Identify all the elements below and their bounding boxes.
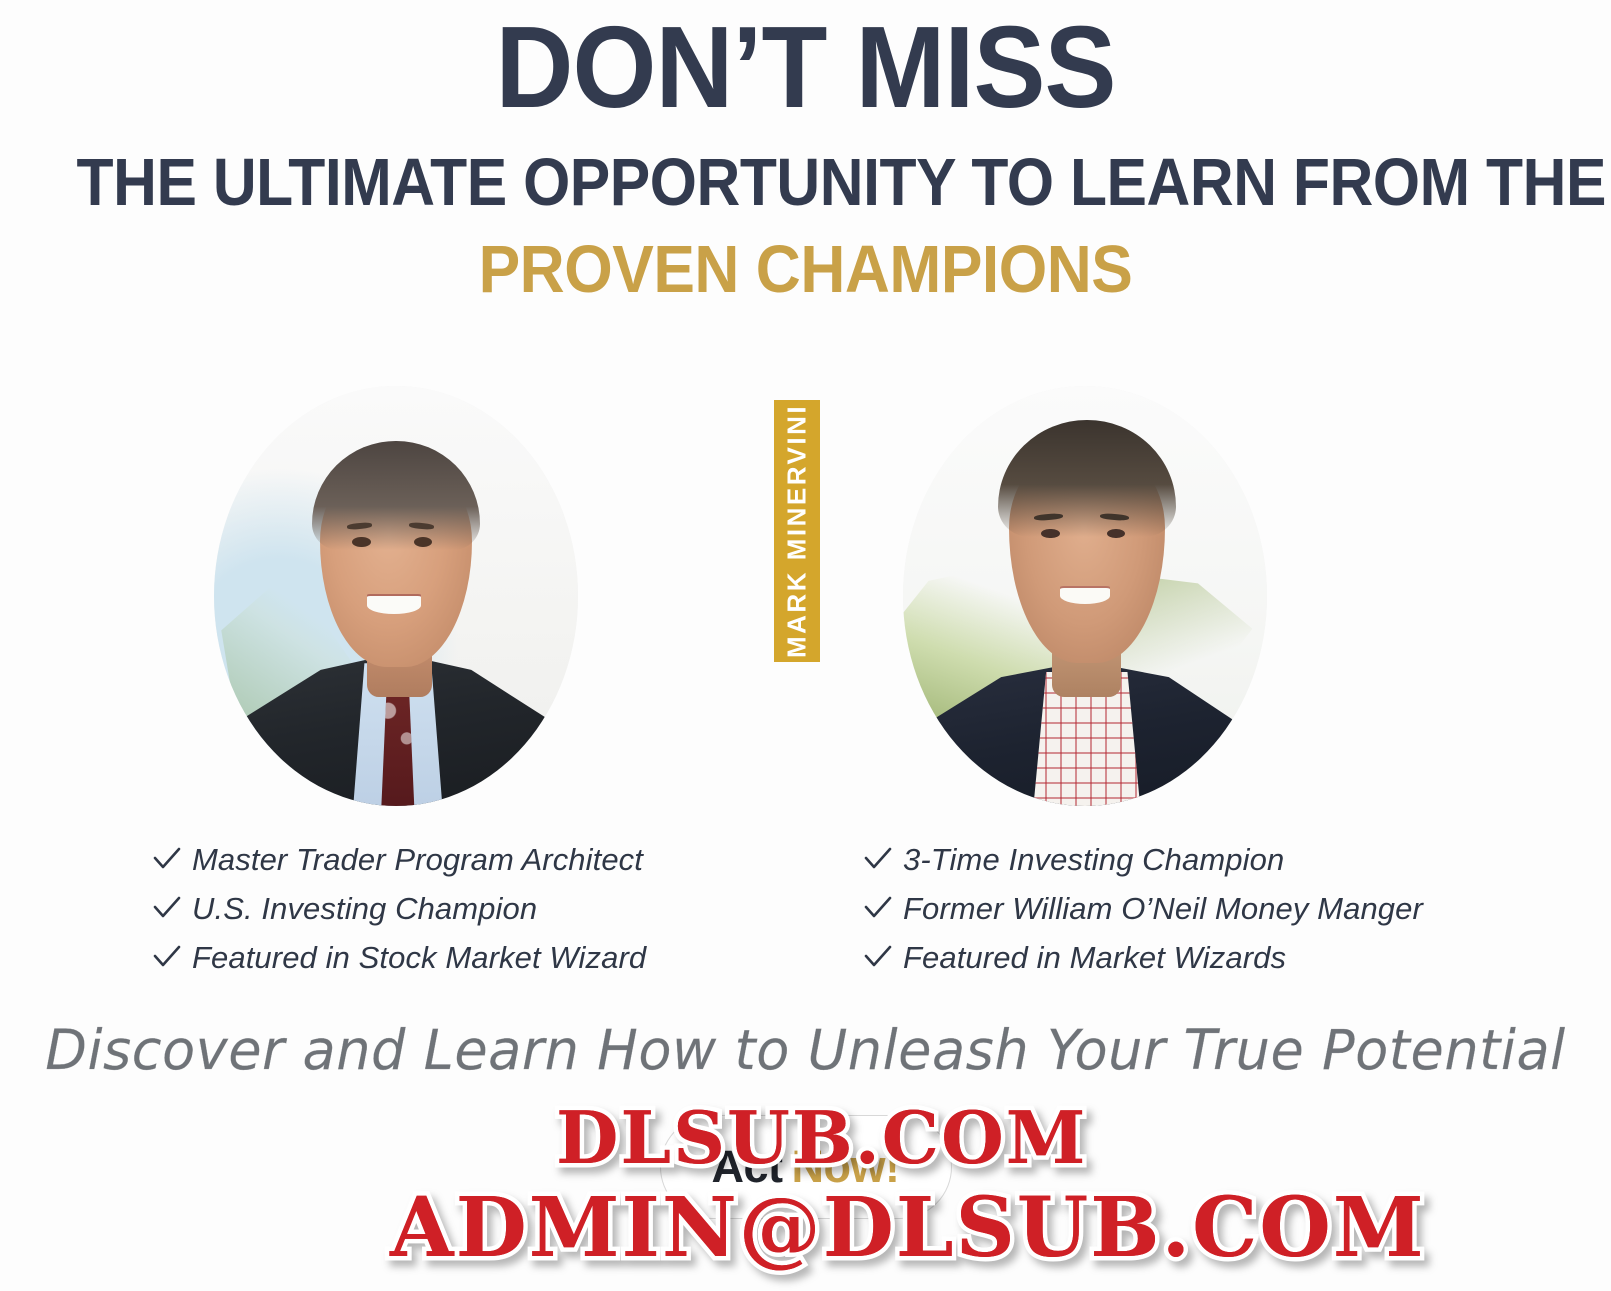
credentials-row: Master Trader Program Architect U.S. Inv…	[0, 842, 1611, 989]
tagline: Discover and Learn How to Unleash Your T…	[12, 1018, 1599, 1082]
cta-wrap: Act Now!	[660, 1115, 952, 1219]
check-icon	[863, 944, 903, 970]
list-item: Featured in Market Wizards	[863, 940, 1610, 989]
portrait-eye-left	[1041, 529, 1059, 539]
headline-primary: DON’T MISS	[56, 8, 1554, 126]
headline-accent: PROVEN CHAMPIONS	[56, 235, 1554, 305]
list-item: Master Trader Program Architect	[152, 842, 805, 891]
list-item-label: Featured in Market Wizards	[903, 940, 1286, 976]
promo-poster: DON’T MISS THE ULTIMATE OPPORTUNITY TO L…	[0, 0, 1611, 1291]
speakers-row: MARK MINERVINI	[0, 372, 1611, 842]
list-item-label: Former William O’Neil Money Manger	[903, 891, 1423, 927]
check-icon	[152, 846, 192, 872]
list-item-label: U.S. Investing Champion	[192, 891, 537, 927]
list-item: Featured in Stock Market Wizard	[152, 940, 805, 989]
speaker-card-david-ryan: DAVID RYAN	[805, 372, 1610, 842]
check-icon	[152, 944, 192, 970]
list-item-label: Master Trader Program Architect	[192, 842, 643, 878]
cta-label-accent: Now!	[792, 1141, 900, 1193]
portrait-eye-left	[352, 537, 370, 547]
list-item-label: 3-Time Investing Champion	[903, 842, 1284, 878]
headline-secondary: THE ULTIMATE OPPORTUNITY TO LEARN FROM T…	[77, 148, 1535, 218]
speaker-card-mark-minervini: MARK MINERVINI	[0, 372, 805, 842]
list-item-label: Featured in Stock Market Wizard	[192, 940, 646, 976]
check-icon	[863, 895, 903, 921]
credentials-list-david-ryan: 3-Time Investing Champion Former William…	[805, 842, 1610, 989]
cta-label-primary: Act	[712, 1141, 783, 1193]
portrait-wrap-mark-minervini: MARK MINERVINI	[200, 372, 592, 812]
portrait-smile	[367, 596, 422, 614]
portrait-photo-mark-minervini	[214, 386, 578, 806]
check-icon	[152, 895, 192, 921]
list-item: 3-Time Investing Champion	[863, 842, 1610, 891]
check-icon	[863, 846, 903, 872]
credentials-list-mark-minervini: Master Trader Program Architect U.S. Inv…	[0, 842, 805, 989]
portrait-photo-david-ryan	[903, 386, 1267, 806]
list-item: U.S. Investing Champion	[152, 891, 805, 940]
act-now-button[interactable]: Act Now!	[660, 1115, 952, 1219]
list-item: Former William O’Neil Money Manger	[863, 891, 1610, 940]
headline-block: DON’T MISS THE ULTIMATE OPPORTUNITY TO L…	[0, 0, 1611, 305]
portrait-wrap-david-ryan: DAVID RYAN	[889, 372, 1281, 812]
